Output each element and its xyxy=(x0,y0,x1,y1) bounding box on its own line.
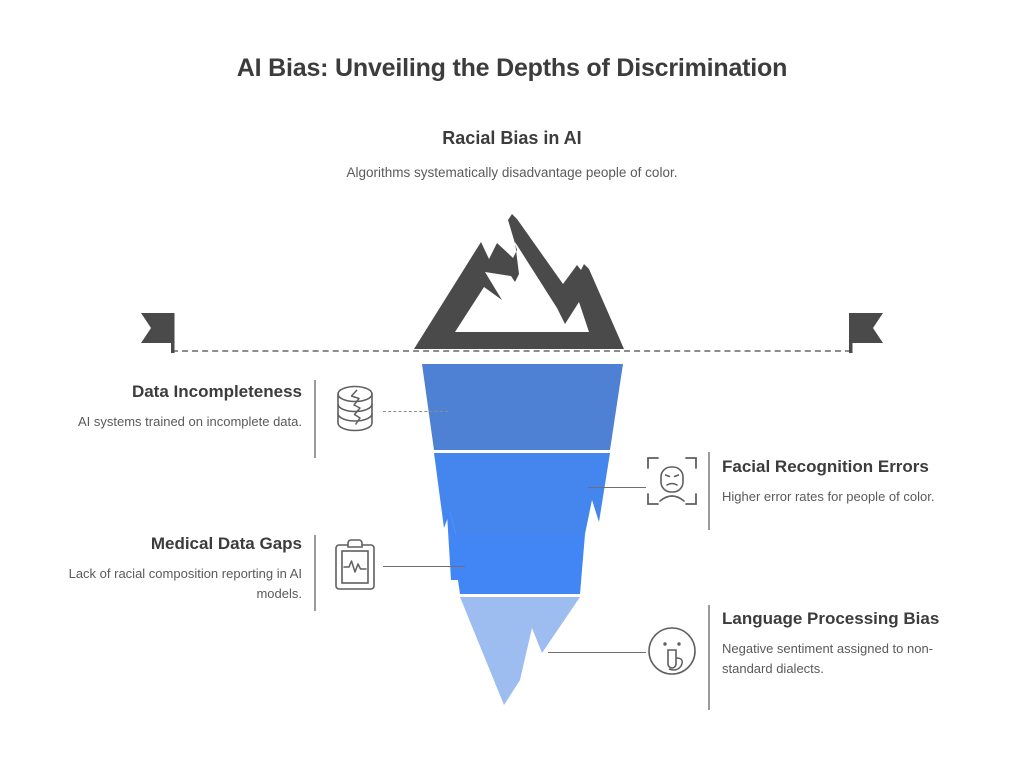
divider-right-2 xyxy=(708,605,710,710)
flag-icon xyxy=(137,310,179,360)
database-crack-icon xyxy=(330,383,380,440)
above-water-heading: Racial Bias in AI xyxy=(312,128,712,149)
connector-line-language-processing xyxy=(548,652,646,653)
item-language-processing-bias: Language Processing Bias Negative sentim… xyxy=(722,608,962,678)
face-scan-icon xyxy=(644,453,700,514)
iceberg-band-2 xyxy=(434,453,610,534)
item-description: Lack of racial composition reporting in … xyxy=(60,564,302,603)
infographic-canvas: AI Bias: Unveiling the Depths of Discrim… xyxy=(0,0,1024,784)
item-medical-data-gaps: Medical Data Gaps Lack of racial composi… xyxy=(60,533,302,603)
item-data-incompleteness: Data Incompleteness AI systems trained o… xyxy=(40,381,302,432)
page-title: AI Bias: Unveiling the Depths of Discrim… xyxy=(0,54,1024,83)
mountain-peak-icon xyxy=(411,212,627,352)
iceberg-band-4 xyxy=(460,597,580,705)
item-heading: Facial Recognition Errors xyxy=(722,456,972,478)
connector-line-facial-recognition xyxy=(588,487,646,488)
item-heading: Data Incompleteness xyxy=(40,381,302,403)
connector-line-data-incompleteness xyxy=(383,411,448,412)
item-description: AI systems trained on incomplete data. xyxy=(40,412,302,432)
item-facial-recognition-errors: Facial Recognition Errors Higher error r… xyxy=(722,456,972,507)
face-speech-icon xyxy=(645,624,699,683)
item-heading: Medical Data Gaps xyxy=(60,533,302,555)
divider-left-2 xyxy=(314,535,316,611)
divider-right-1 xyxy=(708,452,710,530)
flag-icon xyxy=(845,310,887,360)
item-heading: Language Processing Bias xyxy=(722,608,962,630)
item-description: Negative sentiment assigned to non-stand… xyxy=(722,639,962,678)
waterline-divider xyxy=(172,350,851,352)
divider-left-1 xyxy=(314,380,316,458)
iceberg-band-1 xyxy=(422,364,623,450)
connector-line-medical-data-gaps xyxy=(383,566,465,567)
iceberg-body xyxy=(420,362,625,707)
clipboard-heartbeat-icon xyxy=(331,538,379,597)
item-description: Higher error rates for people of color. xyxy=(722,487,972,507)
above-water-description: Algorithms systematically disadvantage p… xyxy=(332,163,692,183)
